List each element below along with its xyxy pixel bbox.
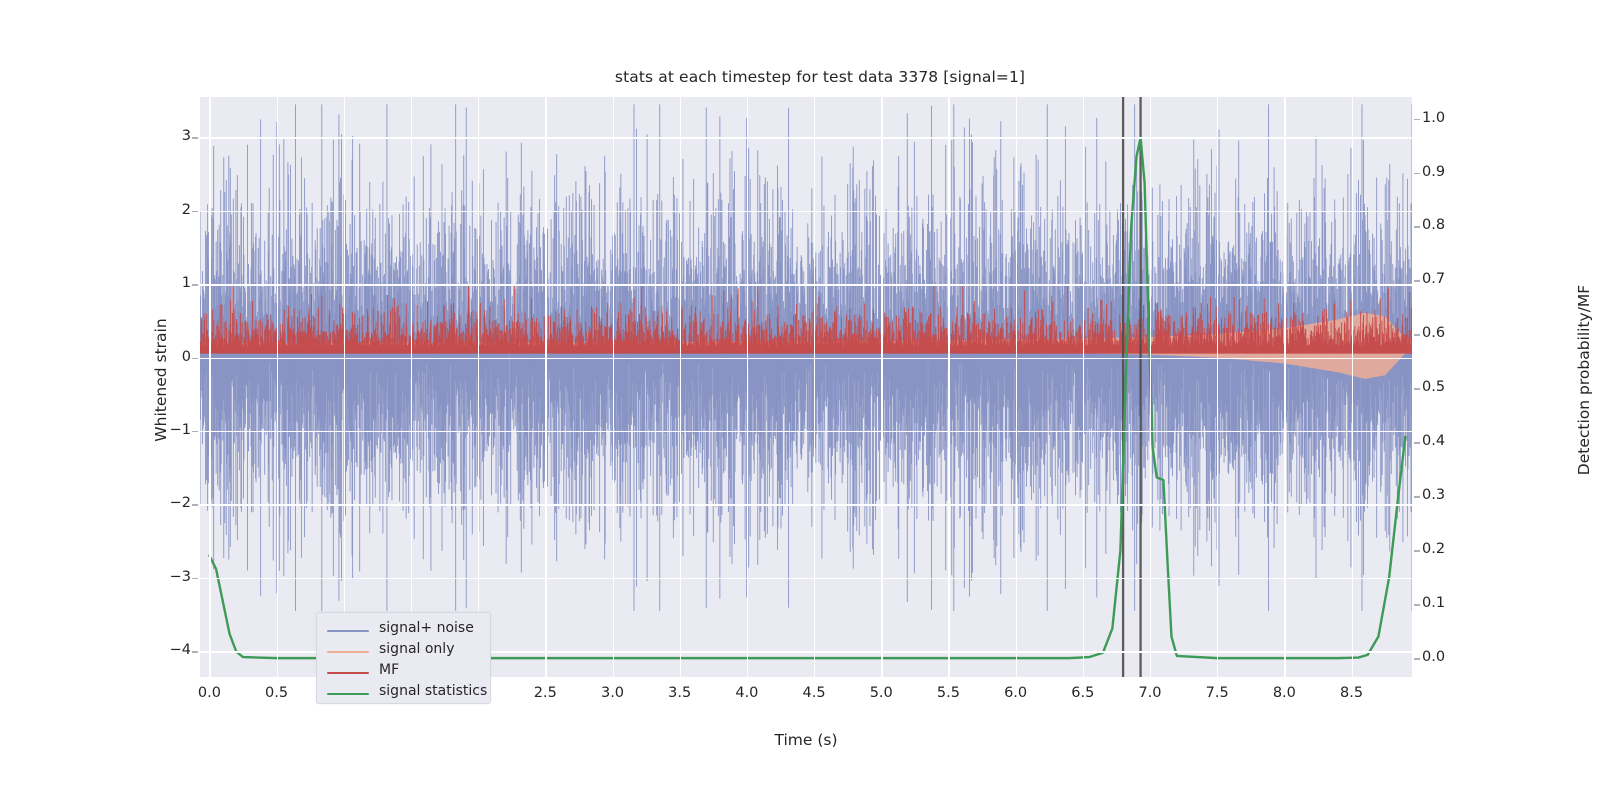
x-axis-tick-label: 8.5 xyxy=(1312,685,1392,701)
gridline-horizontal xyxy=(200,137,1412,138)
y-axis-tick-label-left: 1 xyxy=(131,275,191,291)
figure-canvas: stats at each timestep for test data 337… xyxy=(0,0,1600,800)
gridline-vertical xyxy=(209,97,210,677)
gridline-vertical xyxy=(1150,97,1151,677)
y-axis-tick-label-left: 3 xyxy=(131,128,191,144)
y-axis-tick-label-left: 0 xyxy=(131,349,191,365)
y-axis-tick-label-left: −2 xyxy=(131,495,191,511)
legend-swatch-line xyxy=(327,693,369,695)
gridline-horizontal xyxy=(200,211,1412,212)
y-axis-tick-label-right: 0.7 xyxy=(1422,271,1482,287)
y-axis-tick-label-right: 1.0 xyxy=(1422,110,1482,126)
gridline-vertical xyxy=(411,97,412,677)
y-axis-tick-mark-right xyxy=(1414,280,1420,281)
plot-svg xyxy=(200,97,1412,677)
x-axis-label: Time (s) xyxy=(200,731,1412,749)
chart-title-text: stats at each timestep for test data 337… xyxy=(615,68,1025,86)
gridline-vertical xyxy=(881,97,882,677)
gridline-vertical xyxy=(747,97,748,677)
y-axis-tick-mark-right xyxy=(1414,119,1420,120)
gridline-horizontal xyxy=(200,358,1412,359)
gridline-vertical xyxy=(948,97,949,677)
y-axis-tick-label-right: 0.2 xyxy=(1422,541,1482,557)
gridline-vertical xyxy=(277,97,278,677)
y-axis-tick-label-left: −1 xyxy=(131,422,191,438)
legend-item-label: signal statistics xyxy=(379,683,487,699)
y-axis-tick-label-right: 0.8 xyxy=(1422,217,1482,233)
gridline-vertical xyxy=(1284,97,1285,677)
y-axis-tick-label-right: 0.5 xyxy=(1422,379,1482,395)
y-axis-tick-mark-right xyxy=(1414,604,1420,605)
gridline-horizontal xyxy=(200,504,1412,505)
gridline-vertical xyxy=(1352,97,1353,677)
gridline-vertical xyxy=(545,97,546,677)
y-axis-tick-mark-right xyxy=(1414,550,1420,551)
legend-swatch-line xyxy=(327,672,369,674)
y-axis-tick-label-left: −4 xyxy=(131,642,191,658)
y-axis-tick-label-left: −3 xyxy=(131,569,191,585)
y-axis-tick-mark-right xyxy=(1414,173,1420,174)
y-axis-tick-label-right: 0.6 xyxy=(1422,325,1482,341)
legend-item-label: signal only xyxy=(379,641,454,657)
y-axis-tick-label-right: 0.4 xyxy=(1422,433,1482,449)
legend-item-label: signal+ noise xyxy=(379,620,474,636)
y-axis-tick-mark-right xyxy=(1414,658,1420,659)
gridline-horizontal xyxy=(200,578,1412,579)
y-axis-tick-mark-left xyxy=(192,211,198,212)
y-axis-tick-label-right: 0.0 xyxy=(1422,649,1482,665)
y-axis-tick-label-left: 2 xyxy=(131,202,191,218)
y-axis-tick-mark-left xyxy=(192,284,198,285)
y-axis-tick-label-right: 0.3 xyxy=(1422,487,1482,503)
gridline-vertical xyxy=(814,97,815,677)
legend-swatch-line xyxy=(327,651,369,653)
gridline-vertical xyxy=(613,97,614,677)
legend-swatch-line xyxy=(327,630,369,632)
gridline-vertical xyxy=(344,97,345,677)
y-axis-tick-label-right: 0.9 xyxy=(1422,164,1482,180)
gridline-vertical xyxy=(680,97,681,677)
legend-item-label: MF xyxy=(379,662,399,678)
y-axis-tick-mark-right xyxy=(1414,442,1420,443)
y-axis-tick-mark-right xyxy=(1414,226,1420,227)
y-axis-tick-mark-right xyxy=(1414,334,1420,335)
plot-area xyxy=(200,97,1412,677)
y-axis-label-right: Detection probability/MF xyxy=(1575,100,1593,660)
chart-title: stats at each timestep for test data 337… xyxy=(0,68,1600,86)
y-axis-tick-label-right: 0.1 xyxy=(1422,595,1482,611)
y-axis-tick-mark-left xyxy=(192,504,198,505)
y-axis-tick-mark-left xyxy=(192,578,198,579)
gridline-vertical xyxy=(1083,97,1084,677)
y-axis-tick-mark-left xyxy=(192,137,198,138)
y-axis-tick-mark-right xyxy=(1414,388,1420,389)
legend[interactable]: signal+ noisesignal onlyMFsignal statist… xyxy=(316,612,491,704)
y-axis-tick-mark-left xyxy=(192,431,198,432)
gridline-vertical xyxy=(1217,97,1218,677)
gridline-horizontal xyxy=(200,431,1412,432)
y-axis-tick-mark-left xyxy=(192,651,198,652)
gridline-horizontal xyxy=(200,284,1412,285)
y-axis-tick-mark-right xyxy=(1414,496,1420,497)
gridline-vertical xyxy=(1016,97,1017,677)
y-axis-tick-mark-left xyxy=(192,358,198,359)
gridline-vertical xyxy=(478,97,479,677)
